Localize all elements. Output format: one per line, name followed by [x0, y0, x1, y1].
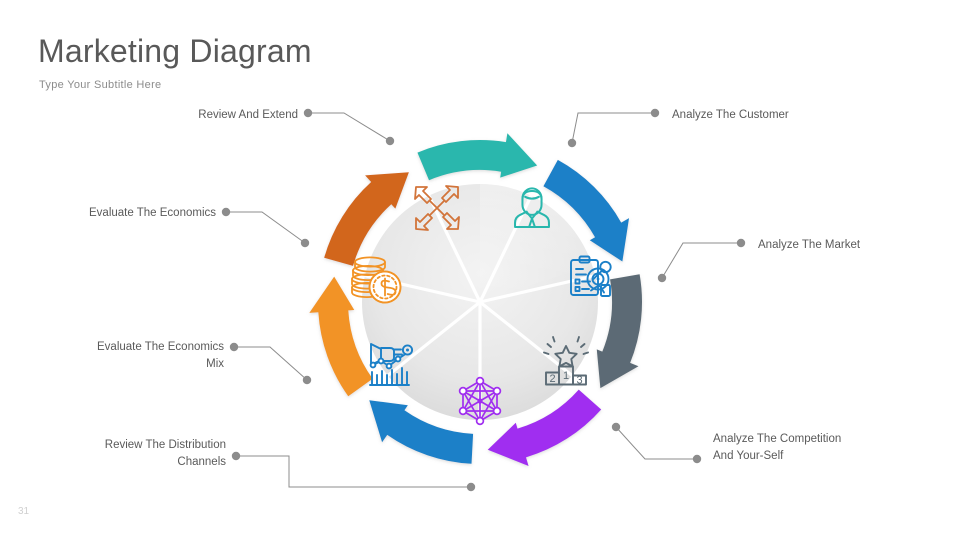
leader-line-analyze-the-market: [662, 243, 741, 278]
leader-dot-outer-analyze-the-competition-and-your-self: [693, 455, 701, 463]
leader-line-review-and-extend: [308, 113, 390, 141]
step-label-review-and-extend: Review And Extend: [170, 107, 298, 124]
leader-dot-outer-analyze-the-customer: [651, 109, 659, 117]
leader-line-analyze-the-customer: [572, 113, 655, 143]
leader-dot-inner-analyze-the-market: [658, 274, 666, 282]
step-label-evaluate-the-economics-mix: Evaluate The Economics Mix: [68, 339, 224, 373]
step-label-analyze-the-market: Analyze The Market: [758, 237, 860, 254]
svg-text:1: 1: [563, 370, 569, 382]
slide-canvas: Marketing Diagram Type Your Subtitle Her…: [0, 0, 960, 540]
leader-line-evaluate-the-economics-mix: [234, 347, 307, 380]
step-label-analyze-the-customer: Analyze The Customer: [672, 107, 789, 124]
leader-line-analyze-the-competition-and-your-self: [616, 427, 697, 459]
leader-dot-outer-evaluate-the-economics: [222, 208, 230, 216]
leader-dot-outer-analyze-the-market: [737, 239, 745, 247]
leader-line-review-the-distribution-channels: [236, 456, 471, 487]
leader-dot-outer-review-and-extend: [304, 109, 312, 117]
svg-text:3: 3: [576, 375, 582, 387]
leader-dot-inner-review-and-extend: [386, 137, 394, 145]
marketing-cycle-diagram: 1 2 3: [0, 0, 960, 540]
leader-dot-inner-review-the-distribution-channels: [467, 483, 475, 491]
leader-dot-outer-evaluate-the-economics-mix: [230, 343, 238, 351]
svg-text:2: 2: [549, 373, 555, 385]
leader-dot-inner-analyze-the-competition-and-your-self: [612, 423, 620, 431]
step-label-evaluate-the-economics: Evaluate The Economics: [60, 205, 216, 222]
leader-line-evaluate-the-economics: [226, 212, 305, 243]
leader-dot-inner-evaluate-the-economics-mix: [303, 376, 311, 384]
leader-dot-outer-review-the-distribution-channels: [232, 452, 240, 460]
step-label-review-the-distribution-channels: Review The Distribution Channels: [78, 437, 226, 471]
leader-dot-inner-evaluate-the-economics: [301, 239, 309, 247]
step-label-analyze-the-competition-and-your-self: Analyze The Competition And Your-Self: [713, 431, 841, 465]
arrow-segment-analyze-the-customer[interactable]: [417, 133, 537, 180]
leader-dot-inner-analyze-the-customer: [568, 139, 576, 147]
